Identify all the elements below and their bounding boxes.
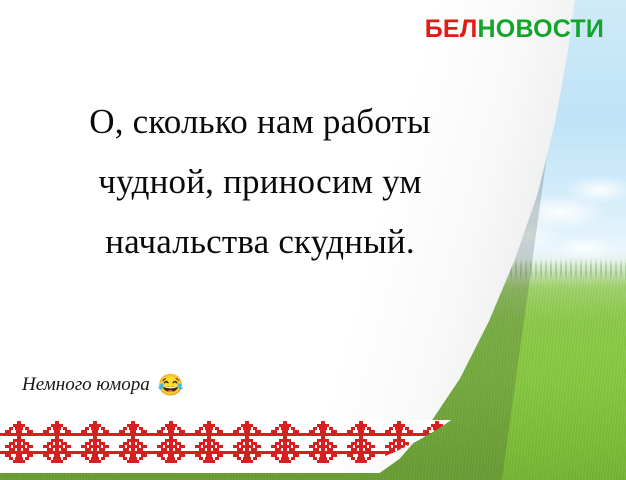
logo-text-bel: БЕЛ xyxy=(425,15,478,43)
laughing-emoji-icon: 😂 xyxy=(158,375,184,396)
quote-line-1: О, сколько нам работы xyxy=(0,92,520,152)
quote-text: О, сколько нам работы чудной, приносим у… xyxy=(0,92,520,273)
caption: Немного юмора 😂 xyxy=(22,374,184,396)
belnovosti-logo[interactable]: БЕЛНОВОСТИ xyxy=(425,17,604,42)
image-canvas: БЕЛНОВОСТИ О, сколько нам работы чудной,… xyxy=(0,0,626,480)
caption-label: Немного юмора xyxy=(22,374,150,396)
quote-line-2: чудной, приносим ум xyxy=(0,152,520,212)
quote-line-3: начальства скудный. xyxy=(0,212,520,272)
logo-text-novosti: НОВОСТИ xyxy=(478,15,604,43)
